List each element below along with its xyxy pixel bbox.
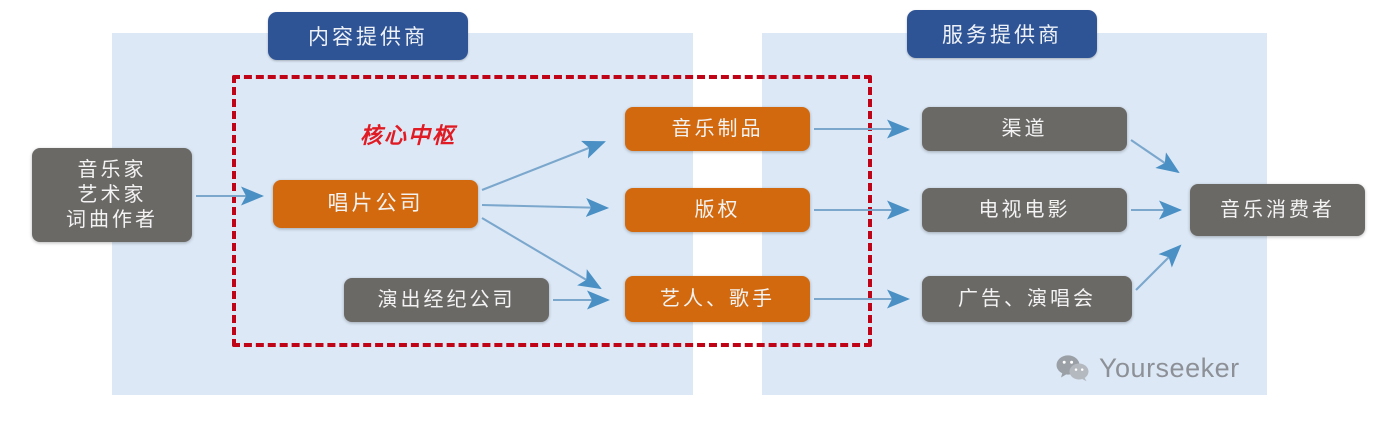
header-content-provider-label: 内容提供商 (308, 21, 428, 51)
node-ads-concerts-text: 广告、演唱会 (958, 287, 1096, 312)
node-tv-film-text: 电视电影 (979, 198, 1071, 223)
diagram-canvas: 内容提供商 服务提供商 核心中枢 音乐家 艺术家 词曲作者 唱片公司 演出经纪公… (0, 0, 1397, 427)
arrow-record-label-to-products (482, 142, 604, 190)
node-record-label-text: 唱片公司 (328, 191, 424, 217)
node-artists-singers: 艺人、歌手 (625, 276, 810, 322)
node-channels-text: 渠道 (1002, 117, 1048, 142)
watermark: Yourseeker (1056, 350, 1240, 386)
wechat-icon (1056, 354, 1090, 382)
node-copyright-text: 版权 (695, 198, 741, 223)
node-channels: 渠道 (922, 107, 1127, 151)
node-tv-film: 电视电影 (922, 188, 1127, 232)
node-artists-line1: 音乐家 (78, 158, 147, 183)
node-music-products-text: 音乐制品 (672, 117, 764, 142)
node-ads-concerts: 广告、演唱会 (922, 276, 1132, 322)
arrow-record-label-to-copyright (482, 205, 607, 208)
node-artists-line3: 词曲作者 (66, 208, 158, 233)
node-copyright: 版权 (625, 188, 810, 232)
arrow-ads-to-consumer (1136, 246, 1180, 290)
header-service-provider: 服务提供商 (907, 10, 1097, 58)
watermark-text: Yourseeker (1099, 353, 1240, 384)
node-music-consumers: 音乐消费者 (1190, 184, 1365, 236)
node-music-products: 音乐制品 (625, 107, 810, 151)
arrow-channel-to-consumer (1131, 140, 1178, 172)
header-content-provider: 内容提供商 (268, 12, 468, 60)
node-performance-agency: 演出经纪公司 (344, 278, 549, 322)
node-music-consumers-text: 音乐消费者 (1220, 198, 1335, 223)
node-performance-agency-text: 演出经纪公司 (378, 288, 516, 313)
node-artists-creators: 音乐家 艺术家 词曲作者 (32, 148, 192, 242)
core-hub-label: 核心中枢 (333, 118, 483, 148)
node-artists-singers-text: 艺人、歌手 (660, 287, 775, 312)
node-record-label: 唱片公司 (273, 180, 478, 228)
node-artists-line2: 艺术家 (78, 183, 147, 208)
header-service-provider-label: 服务提供商 (942, 19, 1062, 49)
